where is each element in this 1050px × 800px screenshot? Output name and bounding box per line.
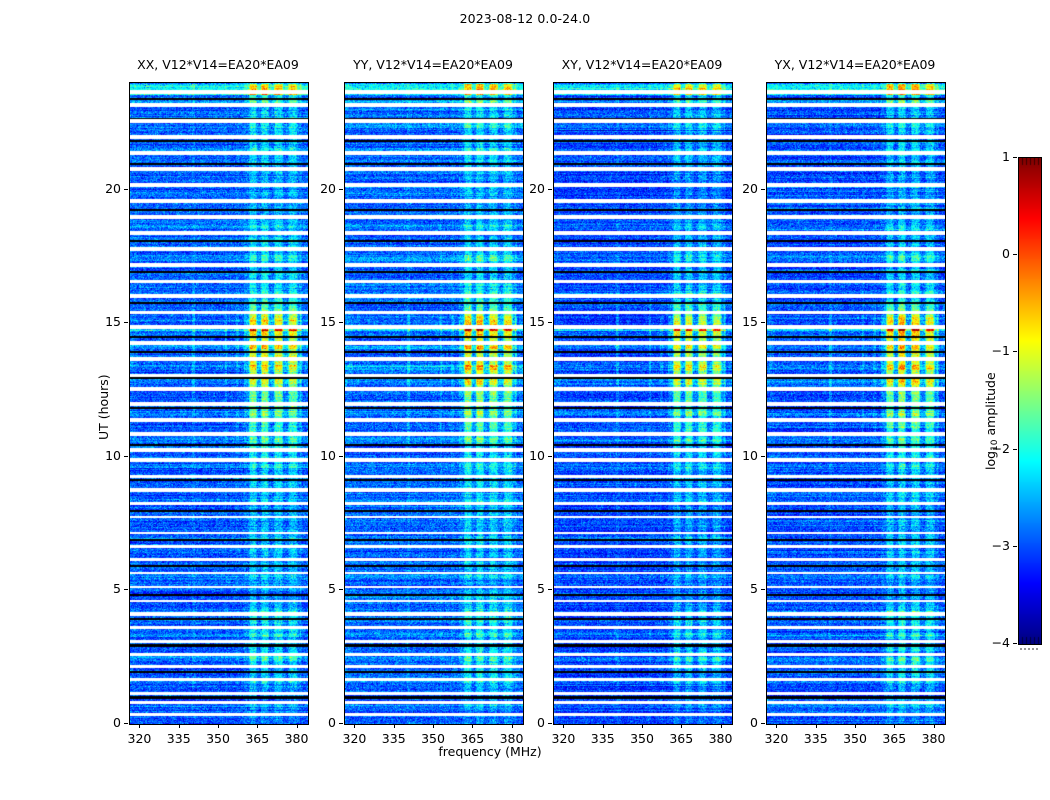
y-tick-label: 5 (296, 581, 336, 596)
y-tick (339, 589, 343, 590)
y-tick (339, 456, 343, 457)
colorbar-label-tail: amplitude (983, 372, 998, 439)
waterfall-image-xx (130, 83, 308, 724)
y-tick-label: 15 (505, 314, 545, 329)
x-axis-label: frequency (MHz) (385, 744, 595, 759)
y-tick-label: 10 (718, 448, 758, 463)
x-tick (855, 724, 856, 728)
colorbar-tick (1013, 546, 1017, 547)
colorbar-tick-label: −1 (970, 343, 1010, 358)
y-tick-label: 20 (81, 181, 121, 196)
y-tick-label: 20 (718, 181, 758, 196)
y-tick-label: 0 (718, 715, 758, 730)
y-tick (548, 589, 552, 590)
colorbar-tick-label: −4 (970, 635, 1010, 650)
y-tick-label: 15 (718, 314, 758, 329)
y-tick-label: 5 (81, 581, 121, 596)
x-tick (603, 724, 604, 728)
y-tick-label: 10 (81, 448, 121, 463)
y-tick (339, 189, 343, 190)
y-tick (548, 322, 552, 323)
x-tick (894, 724, 895, 728)
spectrum-panel-xx (129, 82, 309, 725)
x-tick (816, 724, 817, 728)
y-tick (761, 589, 765, 590)
x-tick (394, 724, 395, 728)
spectrum-panel-yy (344, 82, 524, 725)
colorbar-label-base: log (983, 451, 998, 470)
y-tick-label: 5 (505, 581, 545, 596)
colorbar-tick-label: 0 (970, 246, 1010, 261)
x-tick (218, 724, 219, 728)
x-tick (433, 724, 434, 728)
colorbar-tick (1013, 449, 1017, 450)
y-tick (124, 322, 128, 323)
y-tick (761, 322, 765, 323)
x-tick (139, 724, 140, 728)
colorbar-tick (1013, 157, 1017, 158)
x-tick (681, 724, 682, 728)
colorbar-label: log10 amplitude (983, 372, 1000, 470)
x-tick (472, 724, 473, 728)
x-tick (776, 724, 777, 728)
y-tick (548, 189, 552, 190)
y-tick-label: 0 (81, 715, 121, 730)
y-tick-label: 10 (505, 448, 545, 463)
colorbar-tick-label: −3 (970, 538, 1010, 553)
x-tick (257, 724, 258, 728)
figure-canvas: 2023-08-12 0.0-24.0 XX, V12*V14=EA20*EA0… (0, 0, 1050, 800)
waterfall-image-yy (345, 83, 523, 724)
x-tick (642, 724, 643, 728)
y-tick (124, 589, 128, 590)
waterfall-image-xy (554, 83, 732, 724)
x-tick-label: 380 (909, 731, 959, 746)
x-tick (563, 724, 564, 728)
waterfall-image-yx (767, 83, 945, 724)
x-tick (354, 724, 355, 728)
y-tick-label: 20 (505, 181, 545, 196)
colorbar-label-sub: 10 (990, 439, 1000, 450)
x-tick-label: 380 (696, 731, 746, 746)
y-tick (124, 456, 128, 457)
y-tick (761, 189, 765, 190)
y-tick (548, 456, 552, 457)
x-tick (179, 724, 180, 728)
y-tick (339, 723, 343, 724)
y-tick-label: 15 (81, 314, 121, 329)
y-tick-label: 15 (296, 314, 336, 329)
y-tick-label: 20 (296, 181, 336, 196)
colorbar-under-stub (1020, 648, 1038, 650)
y-tick-label: 0 (296, 715, 336, 730)
spectrum-panel-xy (553, 82, 733, 725)
y-tick (548, 723, 552, 724)
figure-suptitle: 2023-08-12 0.0-24.0 (0, 11, 1050, 26)
spectrum-panel-yx (766, 82, 946, 725)
y-tick-label: 10 (296, 448, 336, 463)
colorbar-tick (1013, 643, 1017, 644)
y-tick-label: 5 (718, 581, 758, 596)
y-tick-label: 0 (505, 715, 545, 730)
colorbar-tick (1013, 254, 1017, 255)
colorbar (1018, 157, 1042, 645)
y-tick (761, 723, 765, 724)
x-tick-label: 380 (272, 731, 322, 746)
y-tick (124, 189, 128, 190)
y-tick (339, 322, 343, 323)
colorbar-tick (1013, 351, 1017, 352)
x-tick (934, 724, 935, 728)
y-axis-label: UT (hours) (96, 374, 111, 440)
colorbar-tick-label: 1 (970, 149, 1010, 164)
y-tick (761, 456, 765, 457)
y-tick (124, 723, 128, 724)
panel-title-yx: YX, V12*V14=EA20*EA09 (706, 57, 1004, 72)
